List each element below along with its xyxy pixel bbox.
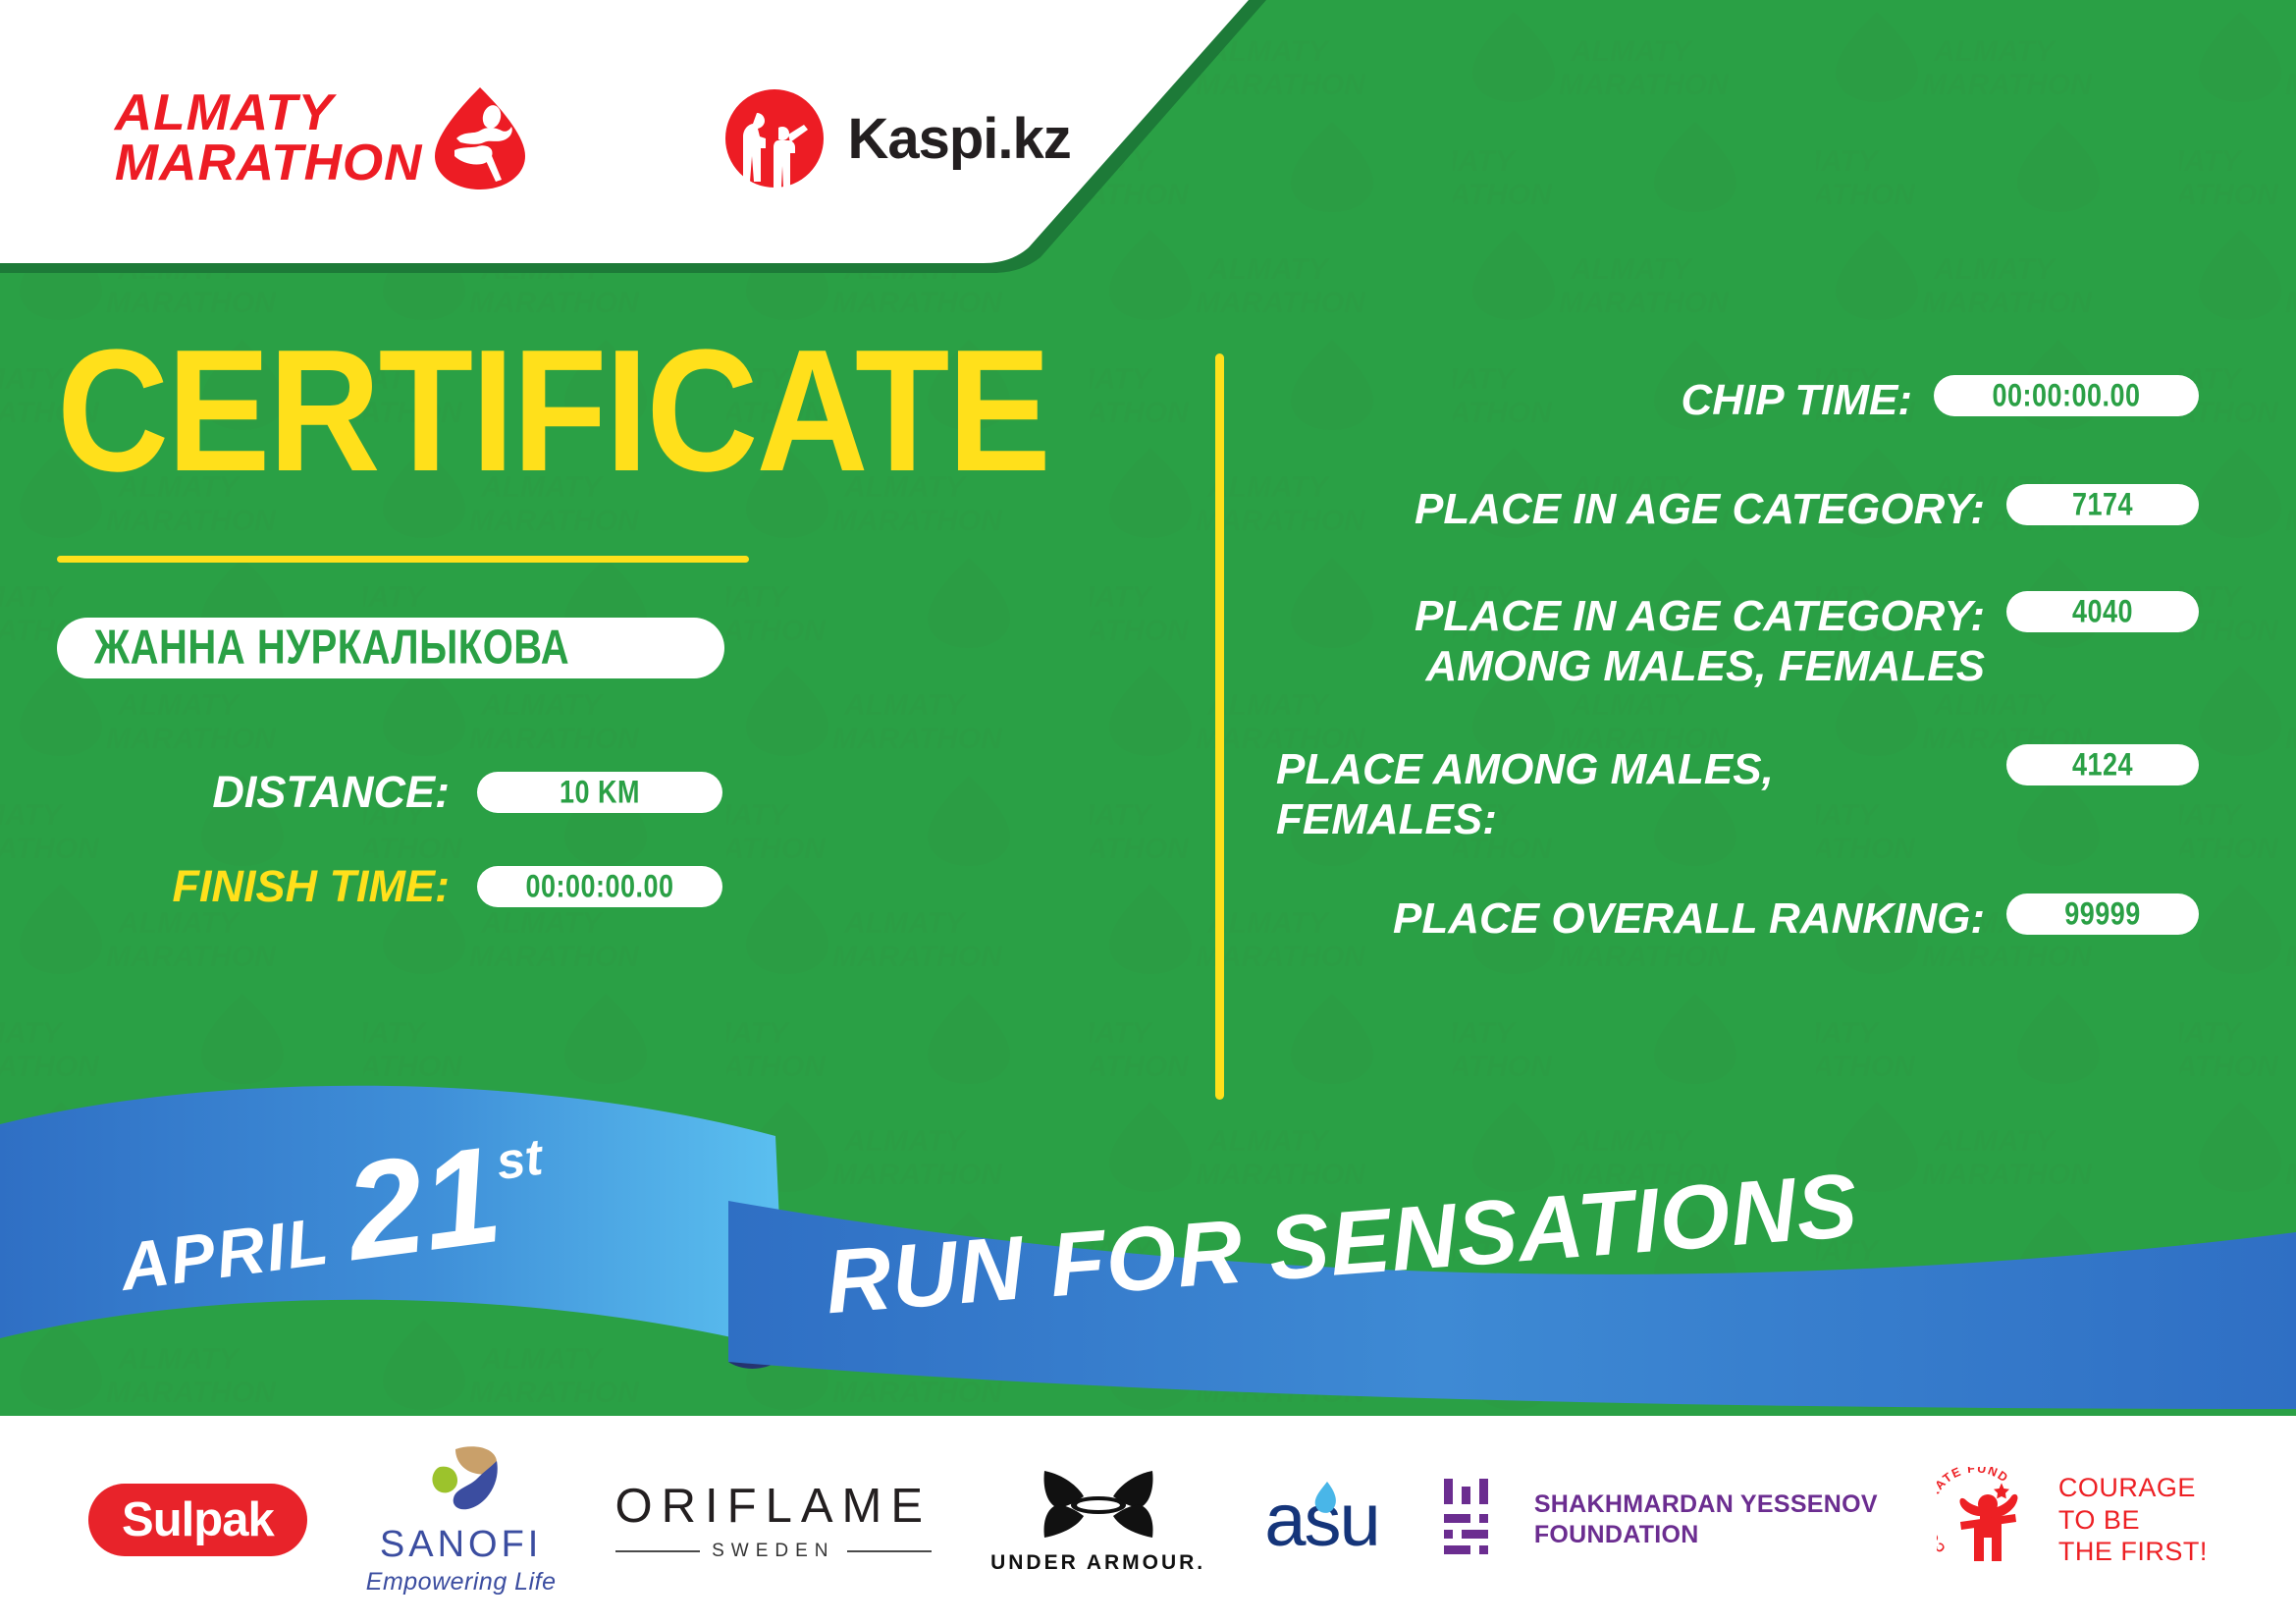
marathon-line-2: MARATHON <box>115 138 423 189</box>
almaty-marathon-logo: ALMATY MARATHON <box>118 85 527 191</box>
event-day-ordinal: st <box>493 1128 546 1193</box>
sponsor-strip: Sulpak SANOFI Empowering Life ORIFLAME S… <box>0 1416 2296 1624</box>
courage-line-1: COURAGE <box>2058 1472 2208 1504</box>
oriflame-rule-right <box>847 1550 933 1552</box>
oriflame-rule-left <box>615 1550 701 1552</box>
sponsor-logo-courage: CORPORATE FUND COURAGE TO BE THE FIRST! <box>1937 1467 2208 1573</box>
sanofi-wordmark: SANOFI <box>380 1524 542 1566</box>
place-overall-value: 99999 <box>2064 896 2141 933</box>
under-armour-icon <box>1037 1465 1160 1543</box>
distance-value: 10 KM <box>560 774 640 810</box>
yessenov-mark-icon <box>1438 1475 1511 1565</box>
yessenov-wordmark-line1: SHAKHMARDAN YESSENOV <box>1534 1489 1878 1521</box>
place-age-category-value-pill: 7174 <box>2006 484 2199 525</box>
sponsor-logo-sanofi: SANOFI Empowering Life <box>366 1443 557 1597</box>
chip-time-label: CHIP TIME: <box>1276 373 1912 425</box>
result-row: PLACE IN AGE CATEGORY: 7174 <box>1276 482 2199 534</box>
certificate-canvas: ALMATY MARATHON Kaspi.kz CERTIF <box>0 0 2296 1624</box>
sponsor-logo-asu: asu <box>1264 1478 1379 1563</box>
marathon-line-1: ALMATY <box>115 88 423 138</box>
place-among-gender-value-pill: 4124 <box>2006 744 2199 785</box>
participant-name-value: ЖАННА НУРКАЛЫКОВА <box>94 622 569 676</box>
finish-time-label: FINISH TIME: <box>57 861 450 912</box>
sponsor-logo-sulpak: Sulpak <box>88 1484 307 1556</box>
place-age-category-label: PLACE IN AGE CATEGORY: <box>1276 482 1985 534</box>
under-armour-wordmark: UNDER ARMOUR. <box>990 1551 1205 1575</box>
yessenov-wordmark-line2: FOUNDATION <box>1534 1520 1878 1551</box>
courage-fund-icon: CORPORATE FUND <box>1937 1467 2043 1573</box>
runner-drop-icon <box>433 85 527 191</box>
sanofi-mark-icon <box>416 1443 507 1522</box>
chip-time-value-pill: 00:00:00.00 <box>1934 375 2199 416</box>
event-day: 21 <box>339 1125 508 1281</box>
kaspi-logo: Kaspi.kz <box>723 87 1070 189</box>
finish-time-row: FINISH TIME: 00:00:00.00 <box>57 861 1158 912</box>
sponsor-logo-under-armour: UNDER ARMOUR. <box>990 1465 1205 1575</box>
result-row: CHIP TIME: 00:00:00.00 <box>1276 373 2199 425</box>
kaspi-people-icon <box>723 87 826 189</box>
distance-label: DISTANCE: <box>57 767 450 818</box>
asu-droplet-icon <box>1311 1480 1341 1519</box>
result-row: PLACE IN AGE CATEGORY: AMONG MALES, FEMA… <box>1276 589 2199 691</box>
sanofi-tagline: Empowering Life <box>366 1568 557 1597</box>
finish-time-value: 00:00:00.00 <box>525 868 673 904</box>
finish-time-value-pill: 00:00:00.00 <box>477 866 722 907</box>
chip-time-value: 00:00:00.00 <box>1992 377 2140 413</box>
oriflame-tagline: SWEDEN <box>712 1541 834 1562</box>
result-row: PLACE AMONG MALES, FEMALES: 4124 <box>1276 742 2199 844</box>
place-overall-value-pill: 99999 <box>2006 893 2199 935</box>
distance-value-pill: 10 KM <box>477 772 722 813</box>
page-title: CERTIFICATE <box>0 324 1158 498</box>
result-row: PLACE OVERALL RANKING: 99999 <box>1276 892 2199 944</box>
participant-name-field: ЖАННА НУРКАЛЫКОВА <box>57 618 724 678</box>
place-among-gender-value: 4124 <box>2072 747 2133 784</box>
sponsor-logo-oriflame: ORIFLAME SWEDEN <box>615 1479 932 1562</box>
place-age-category-gender-value-pill: 4040 <box>2006 591 2199 632</box>
sponsor-logo-yessenov: SHAKHMARDAN YESSENOV FOUNDATION <box>1438 1475 1878 1565</box>
column-divider <box>1215 353 1224 1100</box>
place-age-category-gender-label: PLACE IN AGE CATEGORY: AMONG MALES, FEMA… <box>1276 589 1985 691</box>
courage-line-2: TO BE <box>2058 1504 2208 1537</box>
place-overall-label: PLACE OVERALL RANKING: <box>1276 892 1985 944</box>
oriflame-wordmark: ORIFLAME <box>615 1479 932 1534</box>
courage-line-3: THE FIRST! <box>2058 1536 2208 1568</box>
distance-row: DISTANCE: 10 KM <box>57 767 1158 818</box>
place-among-gender-label: PLACE AMONG MALES, FEMALES: <box>1276 742 1985 844</box>
kaspi-wordmark: Kaspi.kz <box>847 106 1070 172</box>
sulpak-wordmark: Sulpak <box>122 1492 274 1547</box>
place-age-category-gender-value: 4040 <box>2072 593 2133 629</box>
left-column: CERTIFICATE ЖАННА НУРКАЛЫКОВА DISTANCE: … <box>0 324 1158 912</box>
almaty-marathon-wordmark: ALMATY MARATHON <box>115 88 423 189</box>
results-column: CHIP TIME: 00:00:00.00 PLACE IN AGE CATE… <box>1276 373 2199 989</box>
title-underline <box>57 556 749 563</box>
place-age-category-value: 7174 <box>2072 486 2133 522</box>
